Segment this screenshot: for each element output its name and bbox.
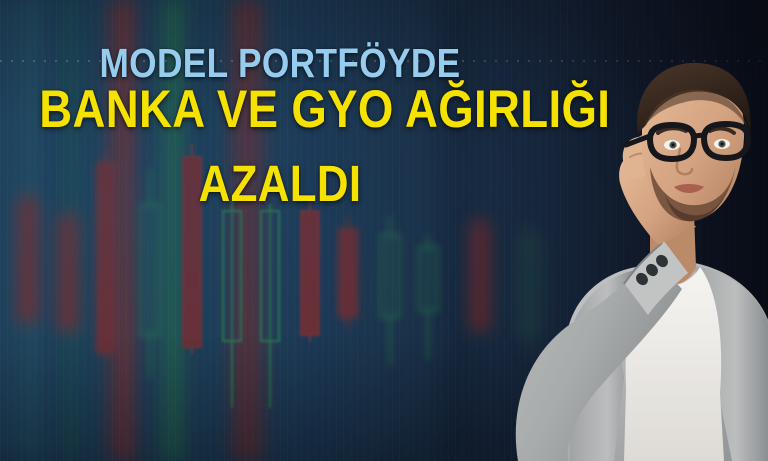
news-banner: MODEL PORTFÖYDE BANKA VE GYO AĞIRLIĞI AZ…	[0, 0, 768, 461]
headline-line-2: BANKA VE GYO AĞIRLIĞI	[39, 85, 521, 136]
headline-line-1: MODEL PORTFÖYDE	[39, 44, 521, 83]
headline-line-3: AZALDI	[39, 160, 521, 209]
headline-block: MODEL PORTFÖYDE BANKA VE GYO AĞIRLIĞI AZ…	[0, 44, 560, 209]
